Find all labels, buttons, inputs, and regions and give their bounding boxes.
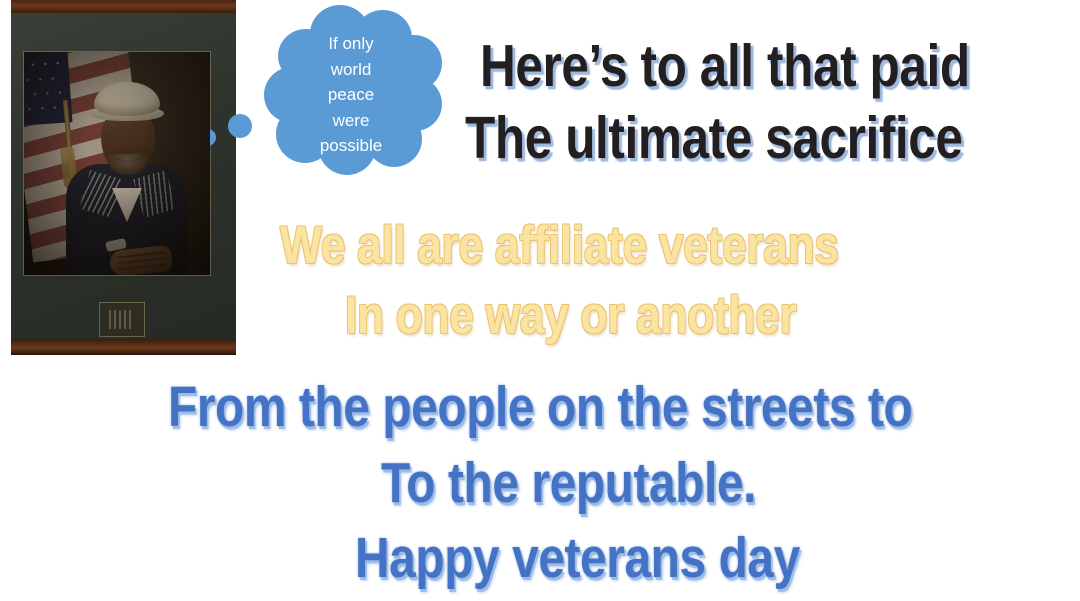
gold-line-2: In one way or another [345, 285, 796, 346]
thought-bubble: If only world peace were possible [262, 5, 444, 175]
engraved-plaque [99, 302, 145, 337]
photo-print [24, 52, 210, 275]
headline-line-2: The ultimate sacrifice [465, 104, 963, 172]
framed-photo [11, 0, 236, 355]
headline-line-1: Here’s to all that paid [480, 32, 970, 100]
photo-warm-cast [24, 52, 210, 275]
blue-line-1: From the people on the streets to [168, 374, 912, 440]
gold-line-1: We all are affiliate veterans [280, 215, 839, 276]
frame-top-edge [11, 0, 236, 13]
thought-bubble-text: If only world peace were possible [295, 31, 407, 159]
slide-canvas: If only world peace were possible Here’s… [0, 0, 1080, 601]
frame-bottom-edge [11, 339, 236, 355]
blue-line-3: Happy veterans day [355, 525, 800, 591]
thought-tail-dot-large [228, 114, 252, 138]
photo-mat [11, 13, 236, 339]
blue-line-2: To the reputable. [381, 450, 756, 516]
